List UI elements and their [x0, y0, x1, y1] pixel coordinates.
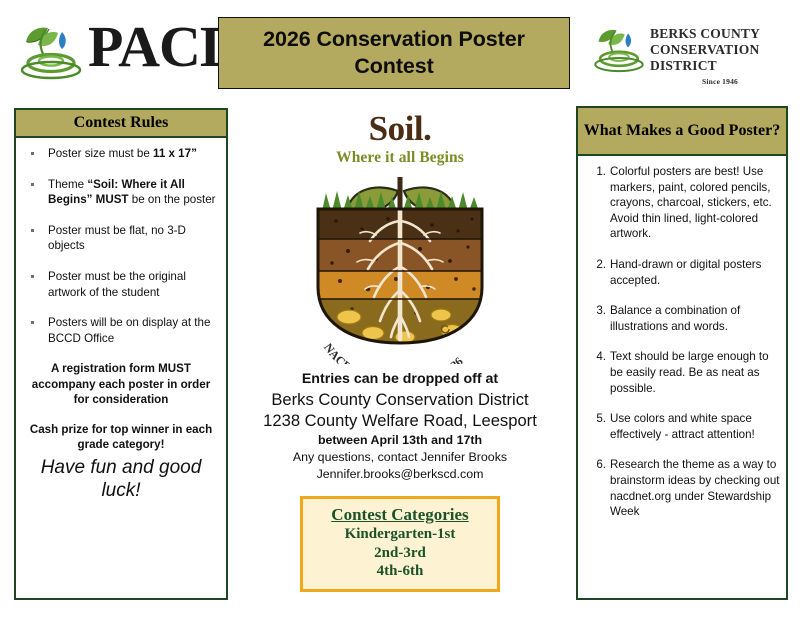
- rule-item: Posters will be on display at the BCCD O…: [22, 315, 220, 346]
- soil-layers: [316, 209, 484, 345]
- category-item: Kindergarten-1st: [307, 525, 493, 544]
- dropoff-line-3: 1238 County Welfare Road, Leesport: [236, 410, 564, 431]
- rule-item: Poster must be the original artwork of t…: [22, 269, 220, 300]
- good-luck-note: Have fun and good luck!: [28, 456, 214, 502]
- tip-number: 4.: [587, 349, 606, 365]
- contest-categories-list: Kindergarten-1st2nd-3rd4th-6th: [307, 525, 493, 581]
- dropoff-line-4: between April 13th and 17th: [236, 431, 564, 449]
- category-item: 4th-6th: [307, 562, 493, 581]
- tip-item: 3.Balance a combination of illustrations…: [584, 303, 780, 334]
- poster-flyer: PACD 2026 Conservation Poster Contest BE…: [0, 0, 800, 618]
- soil-profile-badge-icon: NACD Stewardship Week 2026: [236, 169, 564, 364]
- tip-item: 4.Text should be large enough to be easi…: [584, 349, 780, 396]
- good-poster-list: 1.Colorful posters are best! Use markers…: [584, 164, 780, 520]
- pacd-logo: PACD: [18, 18, 218, 90]
- tip-number: 6.: [587, 457, 606, 473]
- pacd-leaf-water-icon: [18, 18, 84, 84]
- bullet-icon: [31, 152, 34, 155]
- cash-prize-note: Cash prize for top winner in each grade …: [26, 422, 216, 453]
- bullet-icon: [31, 183, 34, 186]
- dropoff-line-1: Entries can be dropped off at: [236, 370, 564, 389]
- contest-categories-title: Contest Categories: [307, 504, 493, 525]
- bccd-logo: BERKS COUNTY CONSERVATION DISTRICT Since…: [592, 22, 788, 86]
- soil-badge-illustration: NACD Stewardship Week 2026: [236, 169, 564, 364]
- rule-emphasis: 11 x 17”: [153, 147, 197, 160]
- contest-rules-panel: Contest Rules Poster size must be 11 x 1…: [14, 108, 228, 600]
- bccd-line-2: CONSERVATION DISTRICT: [650, 42, 790, 74]
- contest-rules-list: Poster size must be 11 x 17”Theme “Soil:…: [22, 146, 220, 346]
- tip-item: 5.Use colors and white space effectively…: [584, 411, 780, 442]
- bccd-line-1: BERKS COUNTY: [650, 26, 790, 42]
- contest-rules-body: Poster size must be 11 x 17”Theme “Soil:…: [16, 138, 226, 506]
- tip-number: 3.: [587, 303, 606, 319]
- flyer-title-box: 2026 Conservation Poster Contest: [218, 17, 570, 89]
- bullet-icon: [31, 229, 34, 232]
- contact-line: Any questions, contact Jennifer Brooks: [236, 449, 564, 466]
- bccd-leaf-water-icon: [592, 22, 646, 76]
- contest-categories-box: Contest Categories Kindergarten-1st2nd-3…: [300, 496, 500, 592]
- registration-note: A registration form MUST accompany each …: [26, 361, 216, 407]
- contest-rules-heading: Contest Rules: [74, 113, 169, 133]
- good-poster-heading: What Makes a Good Poster?: [584, 121, 780, 141]
- tip-item: 6.Research the theme as a way to brainst…: [584, 457, 780, 519]
- good-poster-body: 1.Colorful posters are best! Use markers…: [578, 156, 786, 539]
- good-poster-heading-box: What Makes a Good Poster?: [578, 108, 786, 156]
- tip-item: 2.Hand-drawn or digital posters accepted…: [584, 257, 780, 288]
- tip-number: 1.: [587, 164, 606, 180]
- contest-rules-heading-box: Contest Rules: [16, 110, 226, 138]
- page-title: 2026 Conservation Poster Contest: [219, 26, 569, 80]
- dropoff-line-2: Berks County Conservation District: [236, 389, 564, 410]
- tip-number: 2.: [587, 257, 606, 273]
- rule-item: Poster must be flat, no 3-D objects: [22, 223, 220, 254]
- bullet-icon: [31, 321, 34, 324]
- tip-number: 5.: [587, 411, 606, 427]
- bccd-wordmark: BERKS COUNTY CONSERVATION DISTRICT Since…: [650, 26, 790, 86]
- rule-item: Theme “Soil: Where it All Begins” MUST b…: [22, 177, 220, 208]
- good-poster-panel: What Makes a Good Poster? 1.Colorful pos…: [576, 106, 788, 600]
- flyer-header: PACD 2026 Conservation Poster Contest BE…: [0, 0, 800, 104]
- soil-theme-word: Soil.: [236, 110, 564, 147]
- bccd-since-label: Since 1946: [650, 77, 790, 86]
- rule-item: Poster size must be 11 x 17”: [22, 146, 220, 162]
- category-item: 2nd-3rd: [307, 544, 493, 563]
- bullet-icon: [31, 275, 34, 278]
- rule-emphasis: “Soil: Where it All Begins” MUST: [48, 178, 185, 207]
- tip-item: 1.Colorful posters are best! Use markers…: [584, 164, 780, 242]
- dropoff-info: Entries can be dropped off at Berks Coun…: [236, 370, 564, 482]
- contact-email[interactable]: Jennifer.brooks@berkscd.com: [236, 466, 564, 483]
- soil-theme-subtitle: Where it all Begins: [236, 149, 564, 167]
- center-content: Soil. Where it all Begins: [236, 110, 564, 592]
